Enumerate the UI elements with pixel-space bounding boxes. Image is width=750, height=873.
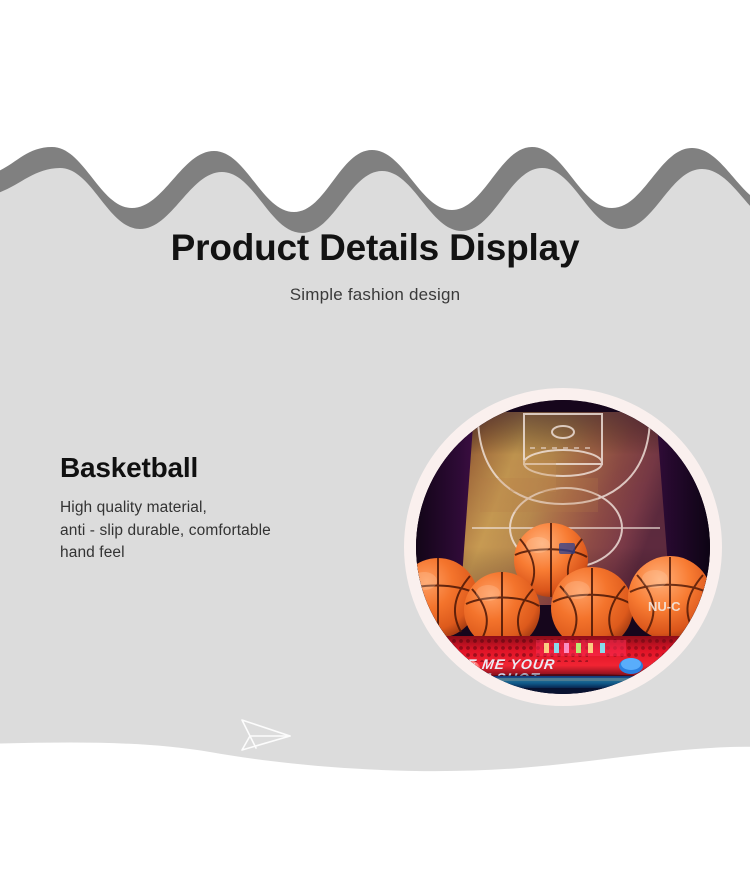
product-description-line-2: anti - slip durable, comfortable [60, 520, 390, 543]
hero-block: Product Details Display Simple fashion d… [0, 226, 750, 306]
basketball-arcade-machine-art: NU-C [416, 400, 710, 694]
page-title: Product Details Display [0, 226, 750, 270]
basketball: NU-C [628, 556, 710, 640]
page-subtitle: Simple fashion design [0, 284, 750, 306]
product-copy-block: Basketball High quality material, anti -… [60, 451, 390, 565]
product-photo: NU-C [416, 400, 710, 694]
product-details-banner: Product Details Display Simple fashion d… [0, 0, 750, 873]
ball-label: NU-C [648, 599, 681, 614]
product-description-line-3: hand feel [60, 542, 390, 565]
product-photo-ring: NU-C [404, 388, 722, 706]
product-description: High quality material, anti - slip durab… [60, 497, 390, 565]
paper-plane-icon [240, 716, 294, 756]
product-description-line-1: High quality material, [60, 497, 390, 520]
product-name: Basketball [60, 451, 390, 485]
